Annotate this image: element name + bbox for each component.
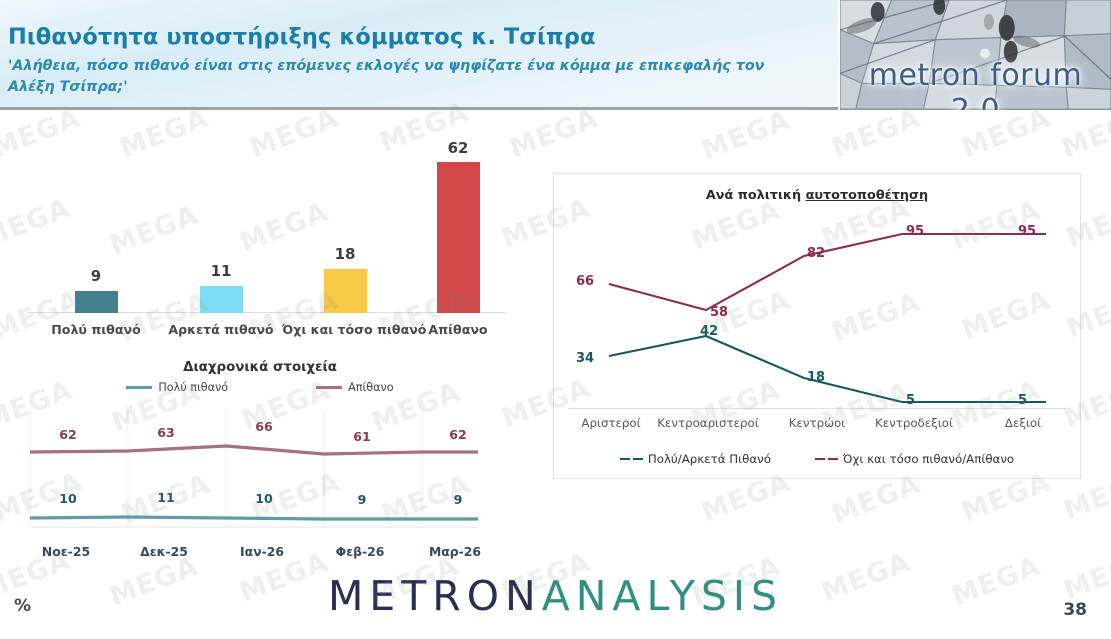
watermark: MEGA <box>698 104 795 166</box>
timeseries-xlabel-1: Δεκ-25 <box>126 544 202 559</box>
timeseries-value-polu-2: 10 <box>244 491 284 506</box>
legend-dash-icon <box>828 458 838 460</box>
timeseries-xlabel-3: Φεβ-26 <box>322 544 398 559</box>
bar-1[interactable] <box>200 286 243 313</box>
bar-label-2: Όχι και τόσο πιθανό <box>282 322 410 337</box>
panel-xlabel-1: Κεντροαριστεροί <box>646 416 770 430</box>
panel-line-polu-arketa <box>609 336 1046 402</box>
bar-label-0: Πολύ πιθανό <box>45 322 147 337</box>
main-bar-chart: 9 Πολύ πιθανό 11 Αρκετά πιθανό 18 Όχι κα… <box>0 140 530 345</box>
logo-metron-text: METRON <box>328 572 542 620</box>
percent-unit-label: % <box>14 596 31 616</box>
bar-value-1: 11 <box>180 262 262 280</box>
metron-analysis-logo: METRONANALYSIS <box>0 572 1111 620</box>
page-title: Πιθανότητα υποστήριξης κόμματος κ. Τσίπρ… <box>8 24 596 50</box>
panel-value-ochi-2: 82 <box>807 246 825 261</box>
watermark: MEGA <box>958 102 1055 164</box>
panel-xlabel-3: Κεντροδεξιοί <box>858 416 970 430</box>
timeseries-value-polu-4: 9 <box>438 492 478 507</box>
page-subtitle: 'Αλήθεια, πόσο πιθανό είναι στις επόμενε… <box>8 56 808 98</box>
page-number: 38 <box>1063 600 1087 620</box>
panel-value-polu-3: 5 <box>906 393 915 408</box>
timeseries-xlabel-0: Νοε-25 <box>28 544 104 559</box>
slide-root: Πιθανότητα υποστήριξης κόμματος κ. Τσίπρ… <box>0 0 1111 639</box>
metron-forum-logo-text: metron forum 2.0 <box>840 58 1111 110</box>
bar-value-2: 18 <box>304 245 386 263</box>
timeseries-value-apithano-3: 61 <box>342 429 382 444</box>
panel-legend-label-0: Πολύ/Αρκετά Πιθανό <box>648 452 771 466</box>
legend-dash-icon <box>815 458 825 460</box>
panel-value-ochi-1: 58 <box>710 305 728 320</box>
panel-legend: Πολύ/Αρκετά Πιθανό Όχι και τόσο πιθανό/Α… <box>554 452 1080 466</box>
panel-legend-label-1: Όχι και τόσο πιθανό/Απίθανο <box>843 452 1014 466</box>
timeseries-value-apithano-4: 62 <box>438 427 478 442</box>
political-self-placement-chart: Ανά πολιτική αυτοτοποθέτηση 66 58 82 95 … <box>553 173 1081 479</box>
metron-forum-logo: metron forum 2.0 <box>838 0 1111 110</box>
watermark: MEGA <box>828 102 925 164</box>
timeseries-value-apithano-1: 63 <box>146 425 186 440</box>
bar-label-3: Απίθανο <box>407 322 509 337</box>
timeseries-value-polu-1: 11 <box>146 490 186 505</box>
timeseries-xlabel-2: Ιαν-26 <box>224 544 300 559</box>
timeseries-line-apithano <box>30 446 478 454</box>
bar-3[interactable] <box>437 162 480 313</box>
bar-group-0[interactable]: 9 <box>55 291 137 313</box>
bar-value-0: 9 <box>55 267 137 285</box>
panel-xlabel-4: Δεξιοί <box>978 416 1068 430</box>
timeseries-xlabel-4: Μαρ-26 <box>412 544 498 559</box>
timeseries-value-apithano-0: 62 <box>48 427 88 442</box>
panel-value-polu-2: 18 <box>807 370 825 385</box>
bar-label-1: Αρκετά πιθανό <box>166 322 276 337</box>
bar-2[interactable] <box>324 269 367 313</box>
panel-value-polu-1: 42 <box>700 324 718 339</box>
panel-line-ochi-apithano <box>609 234 1046 310</box>
timeseries-line-polu-pithano <box>30 517 478 519</box>
bar-0[interactable] <box>75 291 118 313</box>
legend-dash-icon <box>633 458 643 460</box>
panel-legend-item-ochi-apithano[interactable]: Όχι και τόσο πιθανό/Απίθανο <box>815 452 1014 466</box>
bar-group-2[interactable]: 18 <box>304 269 386 313</box>
watermark: MEGA <box>1058 102 1111 164</box>
panel-plot <box>554 174 1080 478</box>
panel-xlabel-2: Κεντρώοι <box>768 416 866 430</box>
timeseries-value-apithano-2: 66 <box>244 419 284 434</box>
timeseries-plot <box>0 355 520 565</box>
timeseries-value-polu-0: 10 <box>48 491 88 506</box>
legend-dash-icon <box>620 458 630 460</box>
panel-value-ochi-4: 95 <box>1018 224 1036 239</box>
bar-group-1[interactable]: 11 <box>180 286 262 313</box>
panel-value-polu-4: 5 <box>1018 393 1027 408</box>
bar-value-3: 62 <box>417 139 499 157</box>
bar-group-3[interactable]: 62 <box>417 162 499 313</box>
timeseries-value-polu-3: 9 <box>342 492 382 507</box>
logo-analysis-text: ANALYSIS <box>542 572 783 620</box>
panel-legend-item-polu-arketa[interactable]: Πολύ/Αρκετά Πιθανό <box>620 452 771 466</box>
panel-value-ochi-3: 95 <box>906 224 924 239</box>
panel-value-ochi-0: 66 <box>576 274 594 289</box>
timeseries-chart: Διαχρονικά στοιχεία Πολύ πιθανό Απίθανο <box>0 355 520 565</box>
panel-xlabel-0: Αριστεροί <box>566 416 656 430</box>
panel-value-polu-0: 34 <box>576 351 594 366</box>
